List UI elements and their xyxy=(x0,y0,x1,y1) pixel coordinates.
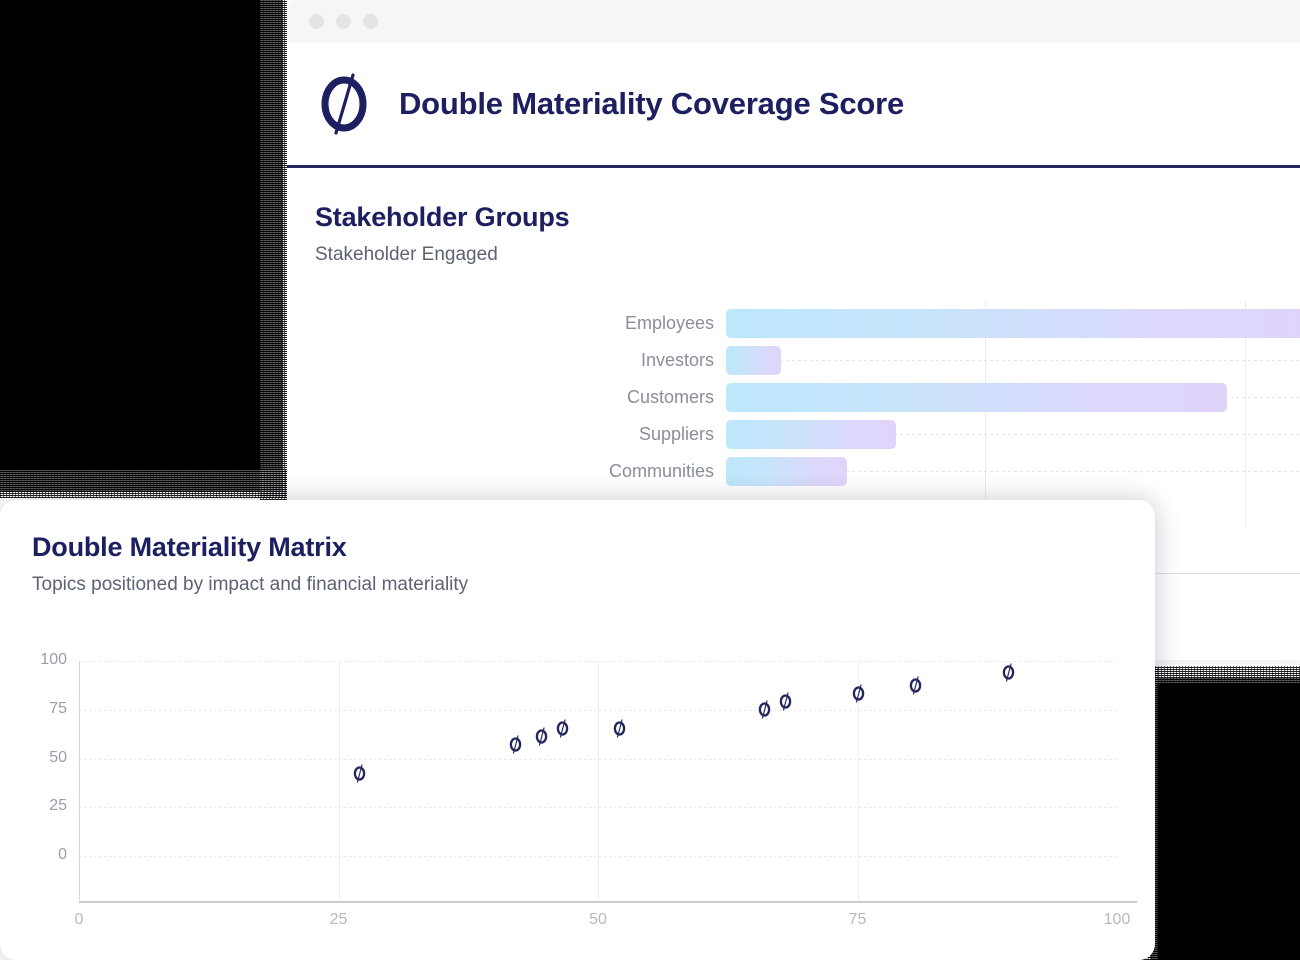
bar-category-label: Customers xyxy=(315,383,714,412)
scatter-x-tick-label: 0 xyxy=(59,911,99,929)
scatter-data-point[interactable] xyxy=(757,700,772,719)
screenshot-stage: Double Materiality Coverage Score Stakeh… xyxy=(0,0,1300,960)
masked-region-left-bottom-noise xyxy=(0,470,287,498)
bar-category-label: Employees xyxy=(315,309,714,338)
panel-title: Stakeholder Groups xyxy=(315,202,1300,233)
bar-category-label: Investors xyxy=(315,346,714,375)
scatter-x-axis-line xyxy=(79,901,1137,903)
bar-chart-bar[interactable] xyxy=(726,309,1300,338)
scatter-x-tick-label: 75 xyxy=(838,911,878,929)
scatter-y-axis-line xyxy=(79,661,80,900)
materiality-scatter-chart: 02550751000255075100 xyxy=(0,640,1155,960)
scatter-data-point[interactable] xyxy=(1001,663,1016,682)
masked-region-br-top-noise xyxy=(1140,666,1300,684)
close-dot-icon[interactable] xyxy=(309,14,324,29)
bar-category-label: Communities xyxy=(315,457,714,486)
scatter-data-point[interactable] xyxy=(352,764,367,783)
masked-region-left xyxy=(0,0,283,492)
scatter-data-point[interactable] xyxy=(778,692,793,711)
app-header: Double Materiality Coverage Score xyxy=(287,43,1300,168)
bar-chart-gridline-horizontal xyxy=(726,360,1300,361)
masked-region-left-edge-noise xyxy=(260,0,287,500)
matrix-subtitle: Topics positioned by impact and financia… xyxy=(32,574,1155,596)
scatter-x-tick-label: 100 xyxy=(1097,911,1137,929)
panel-subtitle: Stakeholder Engaged xyxy=(315,244,1300,266)
scatter-x-tick-label: 25 xyxy=(319,911,359,929)
matrix-title: Double Materiality Matrix xyxy=(32,532,1155,563)
bar-chart-bar[interactable] xyxy=(726,420,896,449)
scatter-y-tick-label: 50 xyxy=(9,749,67,767)
bar-chart-bar[interactable] xyxy=(726,457,847,486)
minimize-dot-icon[interactable] xyxy=(336,14,351,29)
bar-chart-bar[interactable] xyxy=(726,383,1227,412)
maximize-dot-icon[interactable] xyxy=(363,14,378,29)
scatter-y-tick-label: 0 xyxy=(9,846,67,864)
scatter-data-point[interactable] xyxy=(851,684,866,703)
slashed-o-logo-icon xyxy=(315,68,373,140)
masked-region-bottom-right xyxy=(1150,678,1300,960)
page-title: Double Materiality Coverage Score xyxy=(399,86,904,122)
matrix-header: Double Materiality Matrix Topics positio… xyxy=(0,500,1155,596)
scatter-data-point[interactable] xyxy=(555,719,570,738)
bar-category-label: Suppliers xyxy=(315,420,714,449)
scatter-data-point[interactable] xyxy=(534,727,549,746)
scatter-x-tick-label: 50 xyxy=(578,911,618,929)
scatter-y-tick-label: 25 xyxy=(9,797,67,815)
scatter-y-tick-label: 75 xyxy=(9,700,67,718)
scatter-y-tick-label: 100 xyxy=(9,651,67,669)
scatter-gridline-vertical xyxy=(339,661,340,900)
scatter-data-point[interactable] xyxy=(612,719,627,738)
scatter-gridline-vertical xyxy=(598,661,599,900)
materiality-matrix-card: Double Materiality Matrix Topics positio… xyxy=(0,500,1155,960)
window-titlebar xyxy=(287,0,1300,43)
scatter-data-point[interactable] xyxy=(508,735,523,754)
scatter-data-point[interactable] xyxy=(908,676,923,695)
bar-chart-bar[interactable] xyxy=(726,346,781,375)
